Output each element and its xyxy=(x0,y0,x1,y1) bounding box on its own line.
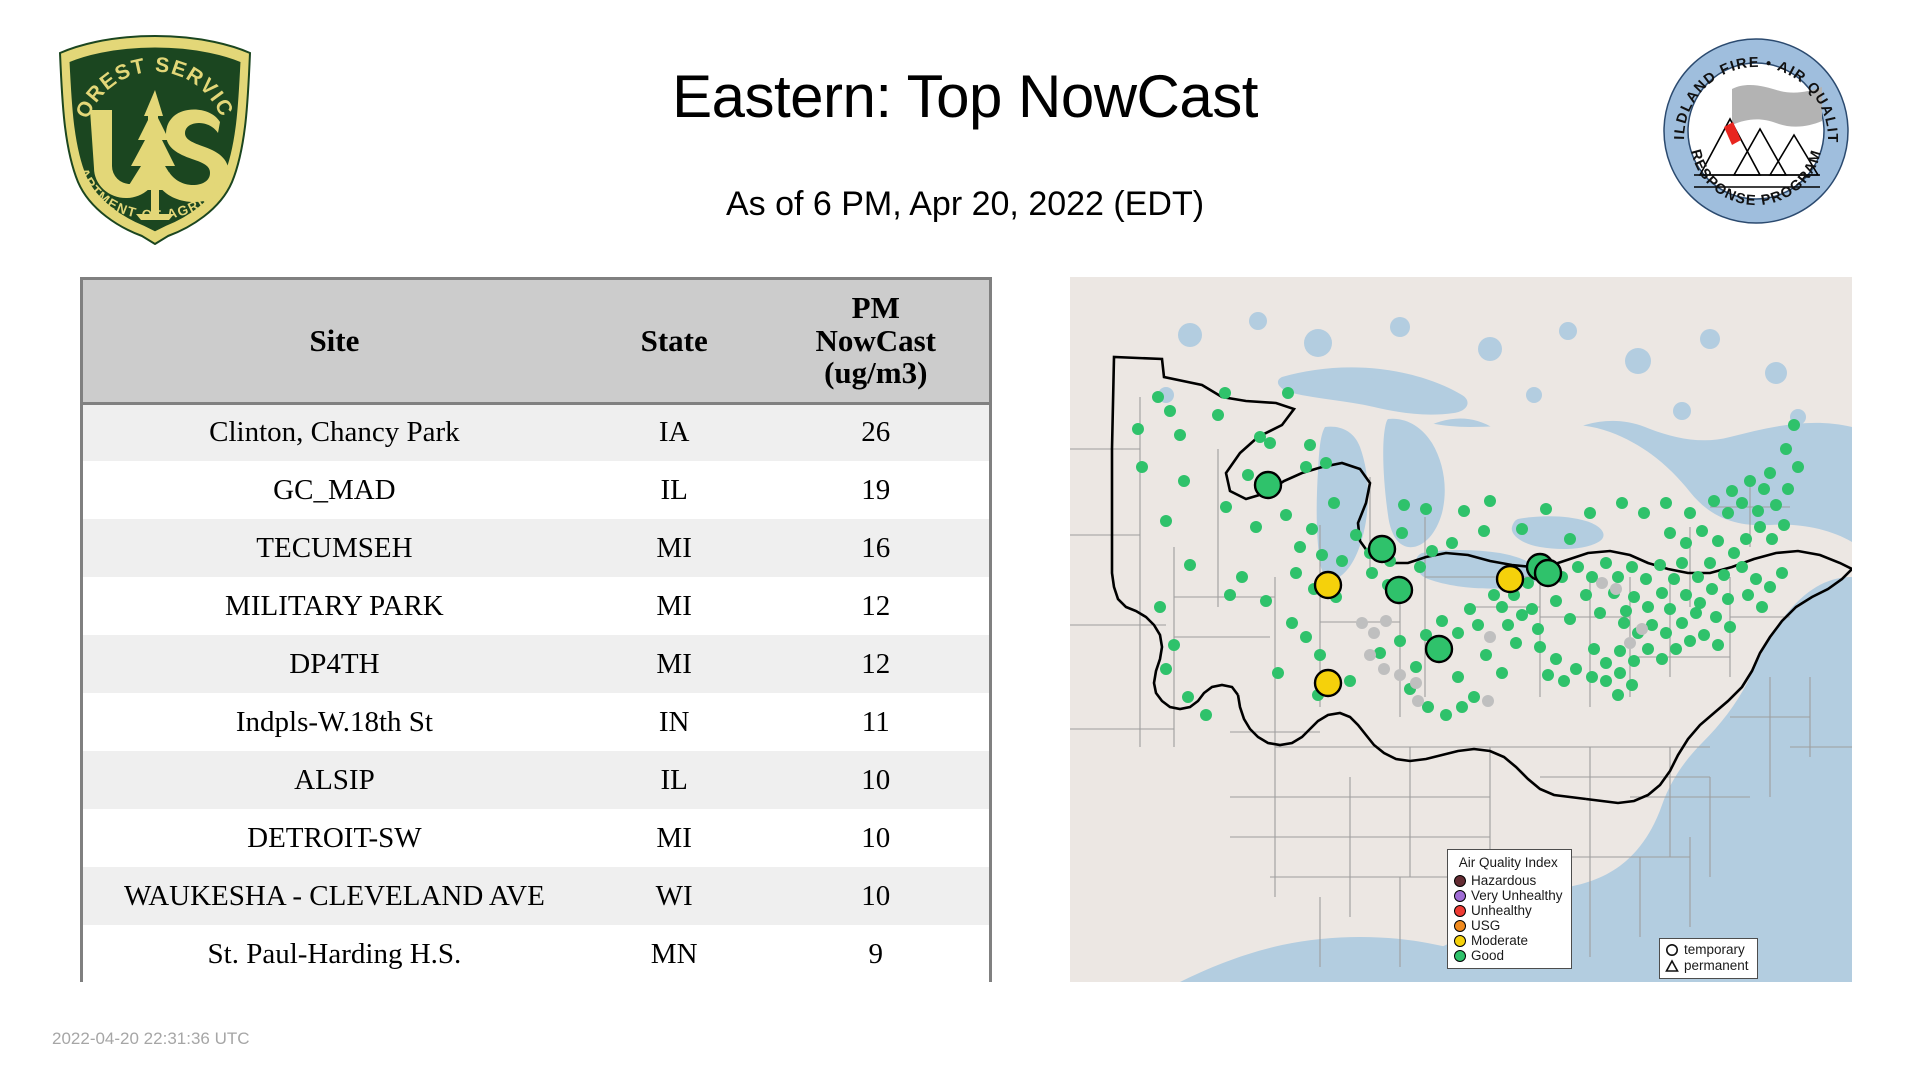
cell-state: IA xyxy=(586,403,763,461)
legend-item-hazardous: Hazardous xyxy=(1454,873,1563,888)
legend-title: Air Quality Index xyxy=(1454,854,1563,871)
wildland-fire-air-quality-logo: WILDLAND FIRE • AIR QUALITY RESPONSE PRO… xyxy=(1660,35,1852,227)
legend-swatch-unhealthy xyxy=(1454,905,1466,917)
cell-state: MI xyxy=(586,809,763,867)
table-body: Clinton, Chancy Park IA 26 GC_MAD IL 19 … xyxy=(83,403,989,983)
cell-state: IL xyxy=(586,461,763,519)
cell-state: IL xyxy=(586,751,763,809)
cell-site: MILITARY PARK xyxy=(83,577,586,635)
cell-site: DP4TH xyxy=(83,635,586,693)
legend-label: Good xyxy=(1471,947,1504,964)
legend-label: temporary xyxy=(1684,941,1745,959)
cell-state: MN xyxy=(586,925,763,983)
legend-item-temporary: temporary xyxy=(1665,942,1749,958)
table-row: WAUKESHA - CLEVELAND AVE WI 10 xyxy=(83,867,989,925)
top-nowcast-table: Site State PM NowCast (ug/m3) Clinton, C… xyxy=(80,277,992,982)
legend-item-usg: USG xyxy=(1454,918,1563,933)
cell-state: MI xyxy=(586,635,763,693)
legend-item-good: Good xyxy=(1454,948,1563,963)
table-row: DETROIT-SW MI 10 xyxy=(83,809,989,867)
cell-site: Indpls-W.18th St xyxy=(83,693,586,751)
legend-swatch-moderate xyxy=(1454,935,1466,947)
table-row: GC_MAD IL 19 xyxy=(83,461,989,519)
legend-label: permanent xyxy=(1684,957,1749,975)
table-header-row: Site State PM NowCast (ug/m3) xyxy=(83,280,989,403)
map-legend-site-type: temporary permanent xyxy=(1659,938,1758,979)
circle-outline-icon xyxy=(1665,943,1679,957)
cell-value: 12 xyxy=(762,635,989,693)
cell-value: 9 xyxy=(762,925,989,983)
legend-item-moderate: Moderate xyxy=(1454,933,1563,948)
legend-swatch-hazardous xyxy=(1454,875,1466,887)
table-row: Clinton, Chancy Park IA 26 xyxy=(83,403,989,461)
cell-site: GC_MAD xyxy=(83,461,586,519)
site-marker-alsip xyxy=(1386,577,1412,603)
cell-site: Clinton, Chancy Park xyxy=(83,403,586,461)
site-marker-gc-mad xyxy=(1315,670,1341,696)
column-header-state: State xyxy=(586,280,763,403)
cell-value: 12 xyxy=(762,577,989,635)
cell-site: WAUKESHA - CLEVELAND AVE xyxy=(83,867,586,925)
triangle-outline-icon xyxy=(1665,959,1679,973)
table-row: Indpls-W.18th St IN 11 xyxy=(83,693,989,751)
cell-site: TECUMSEH xyxy=(83,519,586,577)
page-subtitle: As of 6 PM, Apr 20, 2022 (EDT) xyxy=(300,185,1630,224)
table-row: DP4TH MI 12 xyxy=(83,635,989,693)
site-marker-military-park xyxy=(1535,560,1561,586)
legend-item-unhealthy: Unhealthy xyxy=(1454,903,1563,918)
cell-value: 11 xyxy=(762,693,989,751)
site-marker-indpls-w18th xyxy=(1426,636,1452,662)
site-marker-clinton-chancy-park xyxy=(1315,572,1341,598)
us-forest-service-shield-logo: FOREST SERVICE DEPARTMENT OF AGRICULTURE xyxy=(52,30,258,245)
legend-item-permanent: permanent xyxy=(1665,958,1749,974)
generation-timestamp: 2022-04-20 22:31:36 UTC xyxy=(52,1029,250,1049)
cell-value: 10 xyxy=(762,809,989,867)
cell-value: 10 xyxy=(762,867,989,925)
page-title: Eastern: Top NowCast xyxy=(300,62,1630,131)
slide-root: FOREST SERVICE DEPARTMENT OF AGRICULTURE… xyxy=(0,0,1920,1080)
cell-state: WI xyxy=(586,867,763,925)
cell-value: 10 xyxy=(762,751,989,809)
site-marker-st-paul-harding xyxy=(1255,472,1281,498)
legend-swatch-good xyxy=(1454,950,1466,962)
legend-item-very-unhealthy: Very Unhealthy xyxy=(1454,888,1563,903)
cell-value: 26 xyxy=(762,403,989,461)
legend-swatch-very-unhealthy xyxy=(1454,890,1466,902)
site-marker-waukesha xyxy=(1369,536,1395,562)
table-row: TECUMSEH MI 16 xyxy=(83,519,989,577)
table-row: MILITARY PARK MI 12 xyxy=(83,577,989,635)
table-row: St. Paul-Harding H.S. MN 9 xyxy=(83,925,989,983)
site-marker-tecumseh xyxy=(1497,566,1523,592)
column-header-pm-nowcast: PM NowCast (ug/m3) xyxy=(762,280,989,403)
cell-value: 19 xyxy=(762,461,989,519)
cell-value: 16 xyxy=(762,519,989,577)
table-row: ALSIP IL 10 xyxy=(83,751,989,809)
map-legend-air-quality-index: Air Quality Index Hazardous Very Unhealt… xyxy=(1447,849,1572,969)
column-header-site: Site xyxy=(83,280,586,403)
cell-state: MI xyxy=(586,519,763,577)
cell-site: St. Paul-Harding H.S. xyxy=(83,925,586,983)
cell-site: DETROIT-SW xyxy=(83,809,586,867)
cell-state: MI xyxy=(586,577,763,635)
legend-swatch-usg xyxy=(1454,920,1466,932)
cell-site: ALSIP xyxy=(83,751,586,809)
cell-state: IN xyxy=(586,693,763,751)
